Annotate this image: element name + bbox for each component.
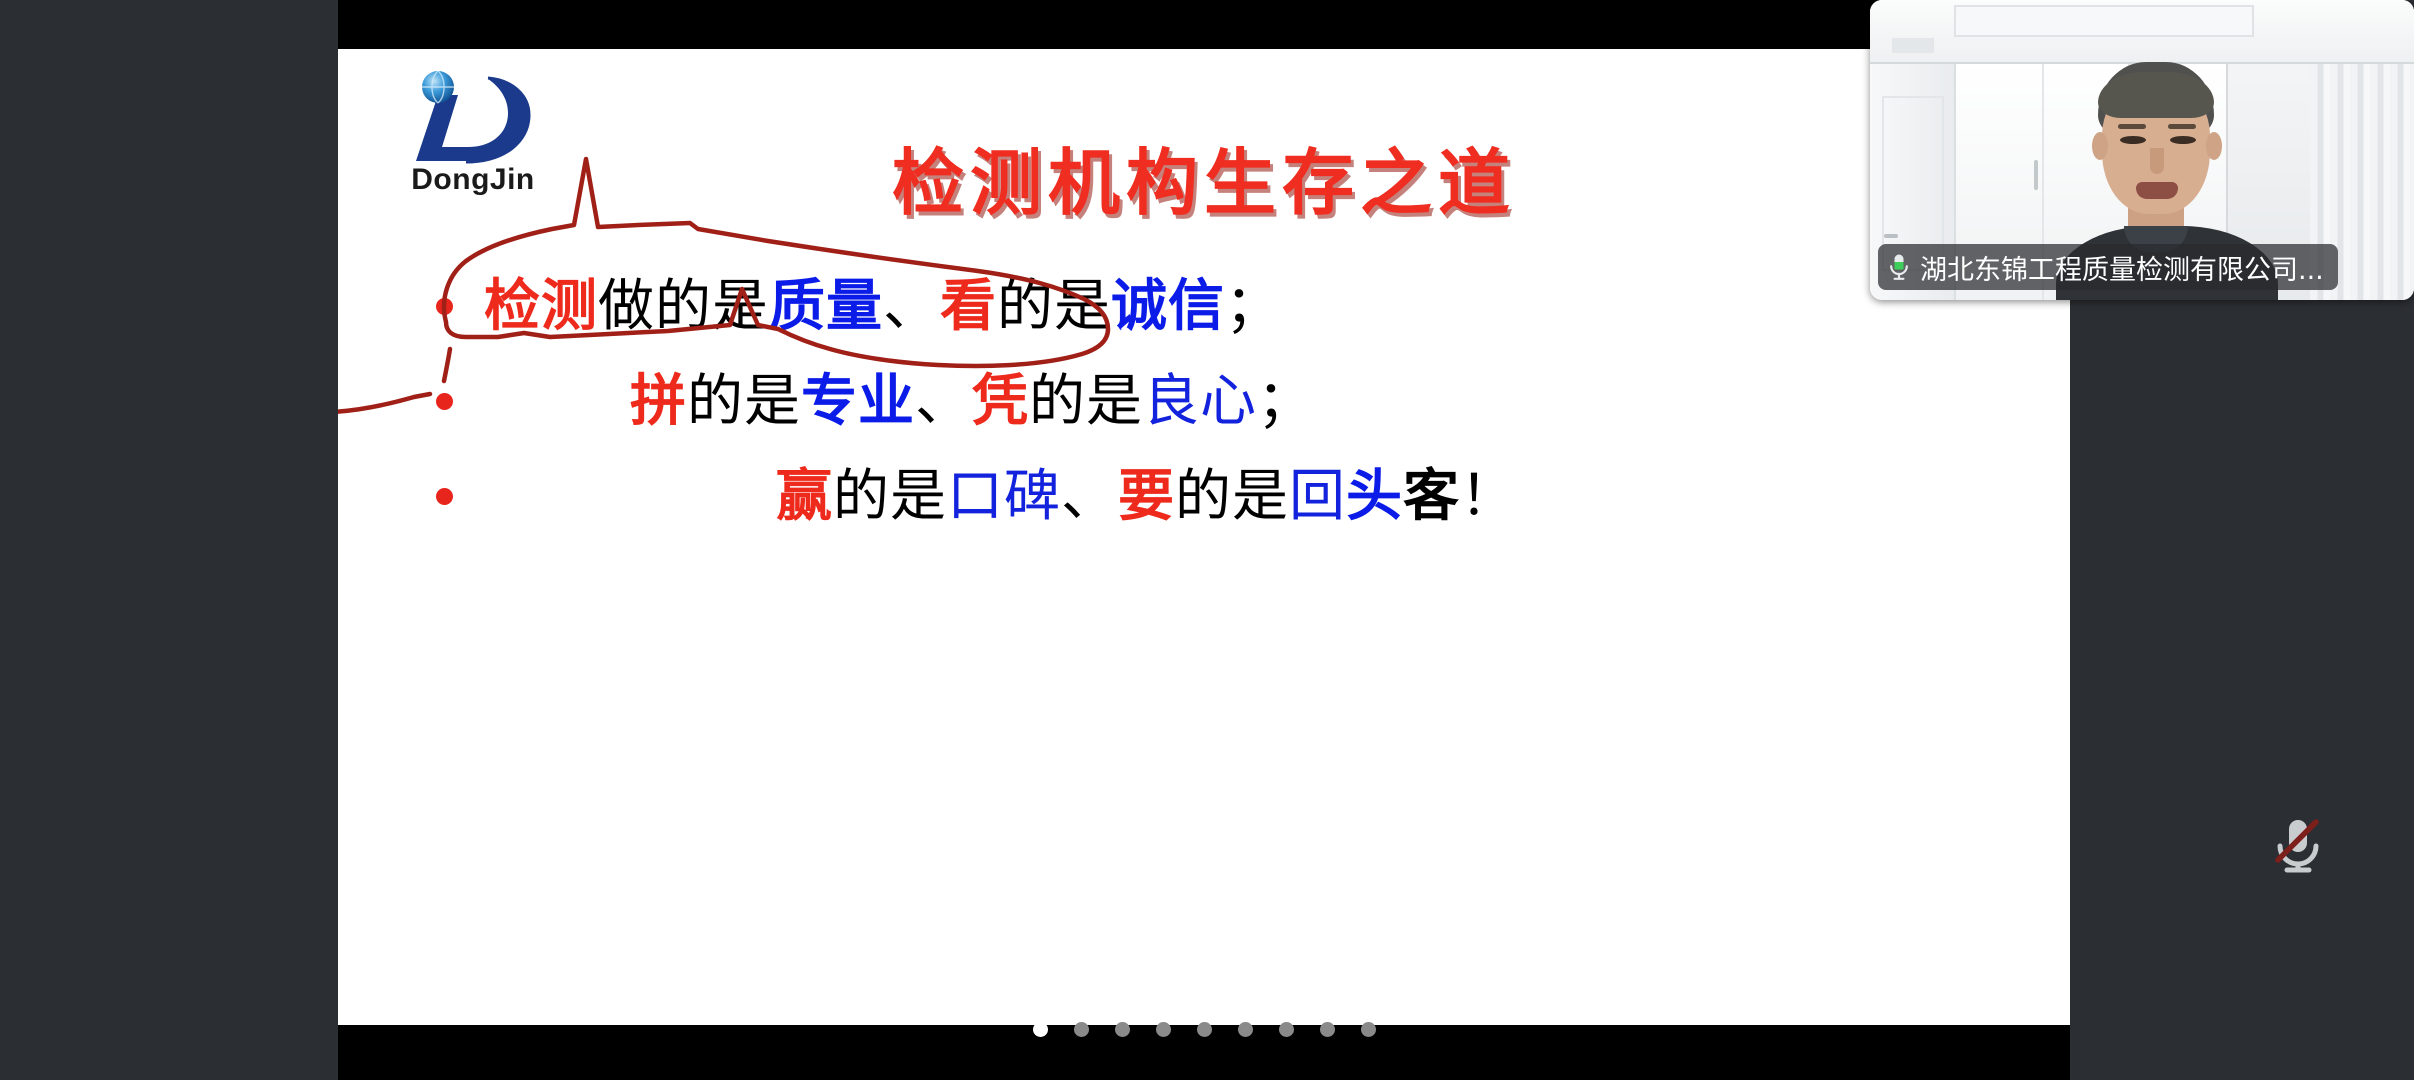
seg-1-4: 看 <box>940 274 997 339</box>
seg-2-4: 凭 <box>972 369 1029 434</box>
bullet-marker-1 <box>436 298 453 315</box>
bullet-text-3: 赢的是口碑、要的是回头客！ <box>776 469 1517 525</box>
slide-bullet-list: 检测做的是质量、看的是诚信； 拼的是专业、凭的是良心； 赢的是口碑、要的是回头客… <box>338 259 2070 544</box>
seg-1-2: 质量 <box>769 274 883 339</box>
seg-2-6: 良心 <box>1143 369 1257 434</box>
microphone-icon <box>1888 253 1910 281</box>
seg-3-8: 客 <box>1403 464 1460 529</box>
seg-3-6: 回 <box>1289 464 1346 529</box>
seg-1-1: 做的是 <box>598 274 769 339</box>
nav-dot-6[interactable] <box>1238 1022 1253 1037</box>
bullet-marker-3 <box>436 488 453 505</box>
seg-3-7: 头 <box>1346 464 1403 529</box>
nav-dot-9[interactable] <box>1361 1022 1376 1037</box>
seg-3-9: ！ <box>1460 464 1517 529</box>
seg-2-5: 的是 <box>1029 369 1143 434</box>
nav-dot-2[interactable] <box>1074 1022 1089 1037</box>
seg-3-0: 赢 <box>776 464 833 529</box>
mute-status-indicator <box>2262 808 2334 880</box>
seg-1-7: ； <box>1225 274 1282 339</box>
nav-dot-3[interactable] <box>1115 1022 1130 1037</box>
room-ceiling <box>1870 0 2414 64</box>
seg-3-1: 的是 <box>833 464 947 529</box>
slide-canvas[interactable]: DongJin 检测机构生存之道 检测做的是质量、看的是诚信； 拼的是专业、凭的… <box>338 49 2070 1025</box>
nav-dot-5[interactable] <box>1197 1022 1212 1037</box>
bullet-line-2: 拼的是专业、凭的是良心； <box>338 354 2070 449</box>
meeting-screen-share-window: DongJin 检测机构生存之道 检测做的是质量、看的是诚信； 拼的是专业、凭的… <box>0 0 2414 1080</box>
bullet-line-1: 检测做的是质量、看的是诚信； <box>338 259 2070 354</box>
bullet-text-2: 拼的是专业、凭的是良心； <box>630 374 1314 430</box>
seg-1-3: 、 <box>883 274 940 339</box>
seg-3-4: 要 <box>1118 464 1175 529</box>
seg-1-5: 的是 <box>997 274 1111 339</box>
nav-dot-1[interactable] <box>1033 1022 1048 1037</box>
seg-2-3: 、 <box>915 369 972 434</box>
seg-2-1: 的是 <box>687 369 801 434</box>
participant-video-tile[interactable]: 湖北东锦工程质量检测有限公司... <box>1870 0 2414 300</box>
seg-3-3: 、 <box>1061 464 1118 529</box>
microphone-muted-icon <box>2262 808 2334 880</box>
seg-1-0: 检测 <box>484 274 598 339</box>
slide-navigation-dots[interactable] <box>338 1022 2070 1037</box>
bullet-line-3: 赢的是口碑、要的是回头客！ <box>338 449 2070 544</box>
seg-2-7: ； <box>1257 369 1314 434</box>
participant-name: 湖北东锦工程质量检测有限公司... <box>1920 248 2324 287</box>
seg-3-5: 的是 <box>1175 464 1289 529</box>
seg-3-2: 口碑 <box>947 464 1061 529</box>
slide-title: 检测机构生存之道 <box>338 124 2070 229</box>
seg-2-0: 拼 <box>630 369 687 434</box>
nav-dot-4[interactable] <box>1156 1022 1171 1037</box>
bullet-marker-2 <box>436 393 453 410</box>
participant-name-pill: 湖北东锦工程质量检测有限公司... <box>1878 244 2338 290</box>
bullet-text-1: 检测做的是质量、看的是诚信； <box>484 279 1282 335</box>
seg-2-2: 专业 <box>801 369 915 434</box>
nav-dot-8[interactable] <box>1320 1022 1335 1037</box>
seg-1-6: 诚信 <box>1111 274 1225 339</box>
nav-dot-7[interactable] <box>1279 1022 1294 1037</box>
